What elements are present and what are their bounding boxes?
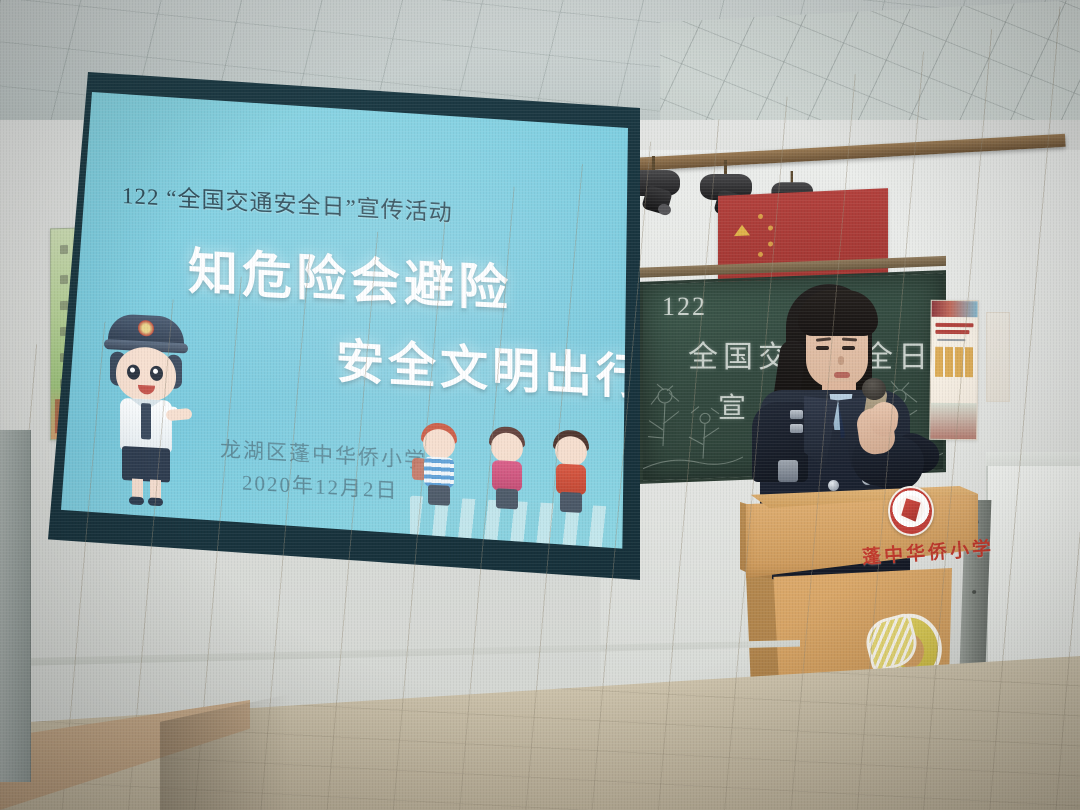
photo-scene: 122 全国交通安全日 宣 122 “全国交通安全日”宣传活动 知危险会避险 安… [0, 0, 1080, 810]
side-door[interactable] [0, 430, 31, 782]
slide-header-text: 122 “全国交通安全日”宣传活动 [122, 176, 453, 228]
